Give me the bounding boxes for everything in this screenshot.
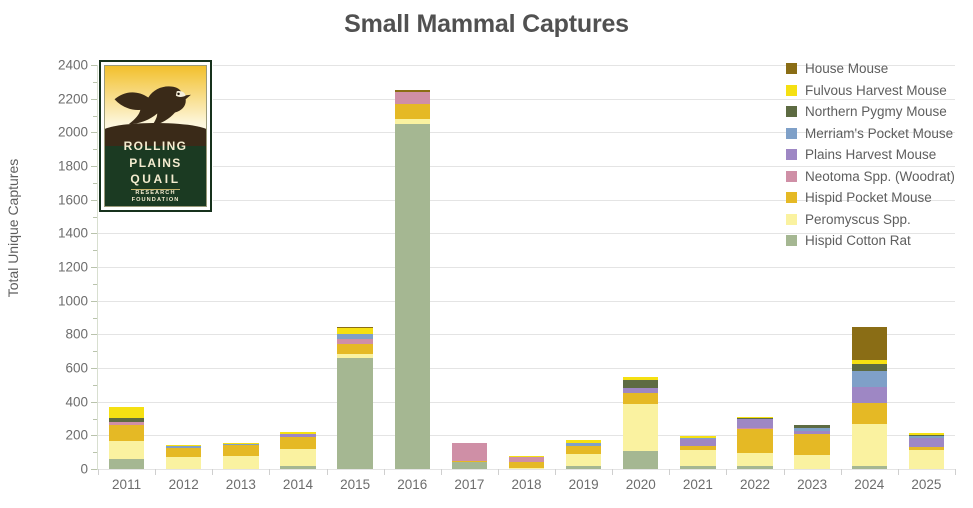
bar-segment[interactable] xyxy=(737,429,772,453)
bar-segment[interactable] xyxy=(109,441,144,459)
x-tick-mark xyxy=(726,469,727,475)
bar-segment[interactable] xyxy=(223,456,258,469)
bar-segment[interactable] xyxy=(395,90,430,92)
bar-segment[interactable] xyxy=(166,457,201,469)
bar-segment[interactable] xyxy=(909,433,944,435)
y-tick-label: 1000 xyxy=(58,293,88,308)
bar-segment[interactable] xyxy=(680,436,715,438)
x-tick-label-2022: 2022 xyxy=(740,477,770,492)
legend: House MouseFulvous Harvest MouseNorthern… xyxy=(786,58,973,252)
bar-segment[interactable] xyxy=(794,425,829,428)
x-tick-label-2012: 2012 xyxy=(169,477,199,492)
bar-2013[interactable] xyxy=(223,443,258,469)
bar-2018[interactable] xyxy=(509,456,544,469)
bar-segment[interactable] xyxy=(452,462,487,469)
legend-item-6[interactable]: Hispid Pocket Mouse xyxy=(786,187,973,209)
bar-2025[interactable] xyxy=(909,433,944,469)
x-tick-label-2021: 2021 xyxy=(683,477,713,492)
legend-label: Merriam's Pocket Mouse xyxy=(805,126,953,141)
y-tick-label: 0 xyxy=(80,462,88,477)
legend-item-7[interactable]: Peromyscus Spp. xyxy=(786,209,973,231)
bar-segment[interactable] xyxy=(337,334,372,338)
x-tick-mark xyxy=(327,469,328,475)
x-tick-label-2013: 2013 xyxy=(226,477,256,492)
x-tick-mark xyxy=(784,469,785,475)
y-tick-label: 1400 xyxy=(58,226,88,241)
bar-segment[interactable] xyxy=(680,446,715,449)
logo-line-4: RESEARCH xyxy=(105,190,206,196)
legend-item-0[interactable]: House Mouse xyxy=(786,58,973,80)
bar-segment[interactable] xyxy=(109,425,144,441)
bar-segment[interactable] xyxy=(909,438,944,447)
x-tick-mark xyxy=(441,469,442,475)
logo-line-3: QUAIL xyxy=(105,172,206,186)
bar-segment[interactable] xyxy=(794,431,829,434)
bar-segment[interactable] xyxy=(337,328,372,335)
bar-2021[interactable] xyxy=(680,436,715,469)
bar-segment[interactable] xyxy=(794,455,829,469)
bar-segment[interactable] xyxy=(623,393,658,404)
bar-segment[interactable] xyxy=(223,443,258,444)
bar-segment[interactable] xyxy=(566,466,601,469)
bar-segment[interactable] xyxy=(109,422,144,425)
gridline xyxy=(98,267,955,268)
bar-2014[interactable] xyxy=(280,432,315,469)
bar-segment[interactable] xyxy=(852,466,887,469)
x-tick-label-2017: 2017 xyxy=(454,477,484,492)
legend-item-8[interactable]: Hispid Cotton Rat xyxy=(786,230,973,252)
bar-segment[interactable] xyxy=(737,419,772,428)
bar-segment[interactable] xyxy=(566,443,601,446)
bar-2015[interactable] xyxy=(337,327,372,469)
x-tick-mark xyxy=(898,469,899,475)
x-tick-mark xyxy=(955,469,956,475)
bar-segment[interactable] xyxy=(623,451,658,469)
x-tick-label-2011: 2011 xyxy=(112,477,141,492)
y-tick-label: 2000 xyxy=(58,125,88,140)
bar-segment[interactable] xyxy=(395,124,430,469)
bar-segment[interactable] xyxy=(680,466,715,469)
bar-segment[interactable] xyxy=(337,344,372,354)
bar-segment[interactable] xyxy=(223,445,258,455)
legend-label: Peromyscus Spp. xyxy=(805,212,911,227)
bar-segment[interactable] xyxy=(166,446,201,448)
bar-segment[interactable] xyxy=(852,360,887,363)
logo-line-1: ROLLING xyxy=(105,139,206,153)
legend-swatch-icon xyxy=(786,192,797,203)
y-tick-label: 1800 xyxy=(58,159,88,174)
bar-segment[interactable] xyxy=(623,388,658,393)
bar-segment[interactable] xyxy=(852,327,887,361)
bar-segment[interactable] xyxy=(509,456,544,457)
bar-segment[interactable] xyxy=(852,403,887,424)
gridline xyxy=(98,334,955,335)
legend-label: Hispid Pocket Mouse xyxy=(805,190,932,205)
x-tick-mark xyxy=(98,469,99,475)
x-tick-mark xyxy=(612,469,613,475)
bar-segment[interactable] xyxy=(452,443,487,461)
bar-segment[interactable] xyxy=(852,424,887,465)
x-tick-mark xyxy=(498,469,499,475)
legend-label: Plains Harvest Mouse xyxy=(805,147,936,162)
legend-label: House Mouse xyxy=(805,61,888,76)
bar-segment[interactable] xyxy=(337,339,372,344)
legend-item-5[interactable]: Neotoma Spp. (Woodrat) xyxy=(786,166,973,188)
bar-segment[interactable] xyxy=(794,434,829,455)
x-tick-mark xyxy=(155,469,156,475)
bar-2011[interactable] xyxy=(109,407,144,469)
bar-segment[interactable] xyxy=(737,418,772,419)
x-tick-mark xyxy=(841,469,842,475)
bar-segment[interactable] xyxy=(452,461,487,463)
bar-2012[interactable] xyxy=(166,445,201,469)
logo-line-5: FOUNDATION xyxy=(105,197,206,203)
bar-segment[interactable] xyxy=(337,327,372,328)
bar-2016[interactable] xyxy=(395,90,430,469)
bar-2019[interactable] xyxy=(566,440,601,469)
bar-segment[interactable] xyxy=(909,435,944,437)
bar-segment[interactable] xyxy=(395,119,430,124)
bar-segment[interactable] xyxy=(166,448,201,457)
y-tick-label: 800 xyxy=(65,327,88,342)
bar-segment[interactable] xyxy=(566,440,601,443)
bar-segment[interactable] xyxy=(280,432,315,434)
bar-segment[interactable] xyxy=(280,449,315,467)
bar-2017[interactable] xyxy=(452,443,487,469)
bar-segment[interactable] xyxy=(566,454,601,467)
bar-segment[interactable] xyxy=(737,417,772,418)
bar-segment[interactable] xyxy=(509,457,544,462)
x-tick-label-2018: 2018 xyxy=(511,477,541,492)
legend-swatch-icon xyxy=(786,214,797,225)
x-tick-mark xyxy=(269,469,270,475)
y-axis: Total Unique Captures 020040060080010001… xyxy=(0,0,88,508)
gridline xyxy=(98,368,955,369)
y-tick-label: 1600 xyxy=(58,192,88,207)
legend-swatch-icon xyxy=(786,235,797,246)
bar-segment[interactable] xyxy=(623,380,658,388)
bar-segment[interactable] xyxy=(909,450,944,469)
bar-segment[interactable] xyxy=(566,446,601,454)
bar-2022[interactable] xyxy=(737,417,772,469)
legend-label: Hispid Cotton Rat xyxy=(805,233,911,248)
x-tick-mark xyxy=(384,469,385,475)
bar-segment[interactable] xyxy=(109,418,144,422)
chart-root: Small Mammal Captures Total Unique Captu… xyxy=(0,0,973,508)
bar-segment[interactable] xyxy=(737,428,772,430)
x-tick-label-2024: 2024 xyxy=(854,477,884,492)
legend-label: Neotoma Spp. (Woodrat) xyxy=(805,169,955,184)
legend-item-3[interactable]: Merriam's Pocket Mouse xyxy=(786,123,973,145)
bar-segment[interactable] xyxy=(852,371,887,387)
y-tick-label: 400 xyxy=(65,394,88,409)
rolling-plains-quail-logo: ROLLING PLAINS QUAIL RESEARCH FOUNDATION xyxy=(99,60,212,212)
bar-segment[interactable] xyxy=(737,453,772,466)
bar-2023[interactable] xyxy=(794,425,829,469)
bar-segment[interactable] xyxy=(852,387,887,404)
bar-segment[interactable] xyxy=(909,447,944,450)
logo-inner: ROLLING PLAINS QUAIL RESEARCH FOUNDATION xyxy=(104,65,207,207)
bar-2024[interactable] xyxy=(852,327,887,469)
bar-segment[interactable] xyxy=(737,466,772,469)
logo-line-2: PLAINS xyxy=(105,156,206,170)
bar-segment[interactable] xyxy=(166,445,201,447)
gridline xyxy=(98,301,955,302)
x-tick-label-2020: 2020 xyxy=(626,477,656,492)
bar-segment[interactable] xyxy=(623,377,658,380)
bar-segment[interactable] xyxy=(909,436,944,438)
bar-segment[interactable] xyxy=(509,468,544,469)
x-tick-label-2015: 2015 xyxy=(340,477,370,492)
bar-segment[interactable] xyxy=(280,466,315,469)
legend-swatch-icon xyxy=(786,128,797,139)
bar-segment[interactable] xyxy=(280,437,315,449)
bar-segment[interactable] xyxy=(680,438,715,439)
legend-swatch-icon xyxy=(786,171,797,182)
y-tick-label: 600 xyxy=(65,361,88,376)
bar-segment[interactable] xyxy=(337,358,372,469)
bar-segment[interactable] xyxy=(680,450,715,466)
chart-title: Small Mammal Captures xyxy=(0,10,973,39)
gridline xyxy=(98,469,955,470)
bar-segment[interactable] xyxy=(395,92,430,104)
legend-swatch-icon xyxy=(786,85,797,96)
bar-segment[interactable] xyxy=(280,434,315,437)
x-tick-label-2023: 2023 xyxy=(797,477,827,492)
bar-segment[interactable] xyxy=(395,104,430,119)
x-tick-label-2014: 2014 xyxy=(283,477,313,492)
y-tick-label: 1200 xyxy=(58,260,88,275)
bar-segment[interactable] xyxy=(794,428,829,431)
bar-segment[interactable] xyxy=(852,364,887,371)
bar-segment[interactable] xyxy=(680,439,715,447)
x-tick-mark xyxy=(669,469,670,475)
y-tick-label: 2400 xyxy=(58,58,88,73)
x-tick-label-2016: 2016 xyxy=(397,477,427,492)
y-axis-label: Total Unique Captures xyxy=(5,48,21,408)
flying-quail-icon xyxy=(111,74,200,144)
y-tick-label: 2200 xyxy=(58,91,88,106)
legend-label: Fulvous Harvest Mouse xyxy=(805,83,947,98)
bar-2020[interactable] xyxy=(623,377,658,469)
y-tick-label: 200 xyxy=(65,428,88,443)
bar-segment[interactable] xyxy=(223,444,258,446)
x-tick-mark xyxy=(212,469,213,475)
bar-segment[interactable] xyxy=(509,462,544,468)
legend-swatch-icon xyxy=(786,106,797,117)
gridline xyxy=(98,402,955,403)
x-tick-mark xyxy=(555,469,556,475)
legend-item-2[interactable]: Northern Pygmy Mouse xyxy=(786,101,973,123)
legend-swatch-icon xyxy=(786,63,797,74)
bar-segment[interactable] xyxy=(109,407,144,418)
legend-item-1[interactable]: Fulvous Harvest Mouse xyxy=(786,80,973,102)
bar-segment[interactable] xyxy=(337,354,372,358)
legend-item-4[interactable]: Plains Harvest Mouse xyxy=(786,144,973,166)
x-tick-label-2019: 2019 xyxy=(569,477,599,492)
legend-label: Northern Pygmy Mouse xyxy=(805,104,947,119)
x-tick-label-2025: 2025 xyxy=(911,477,941,492)
bar-segment[interactable] xyxy=(109,459,144,469)
legend-swatch-icon xyxy=(786,149,797,160)
bar-segment[interactable] xyxy=(623,404,658,451)
